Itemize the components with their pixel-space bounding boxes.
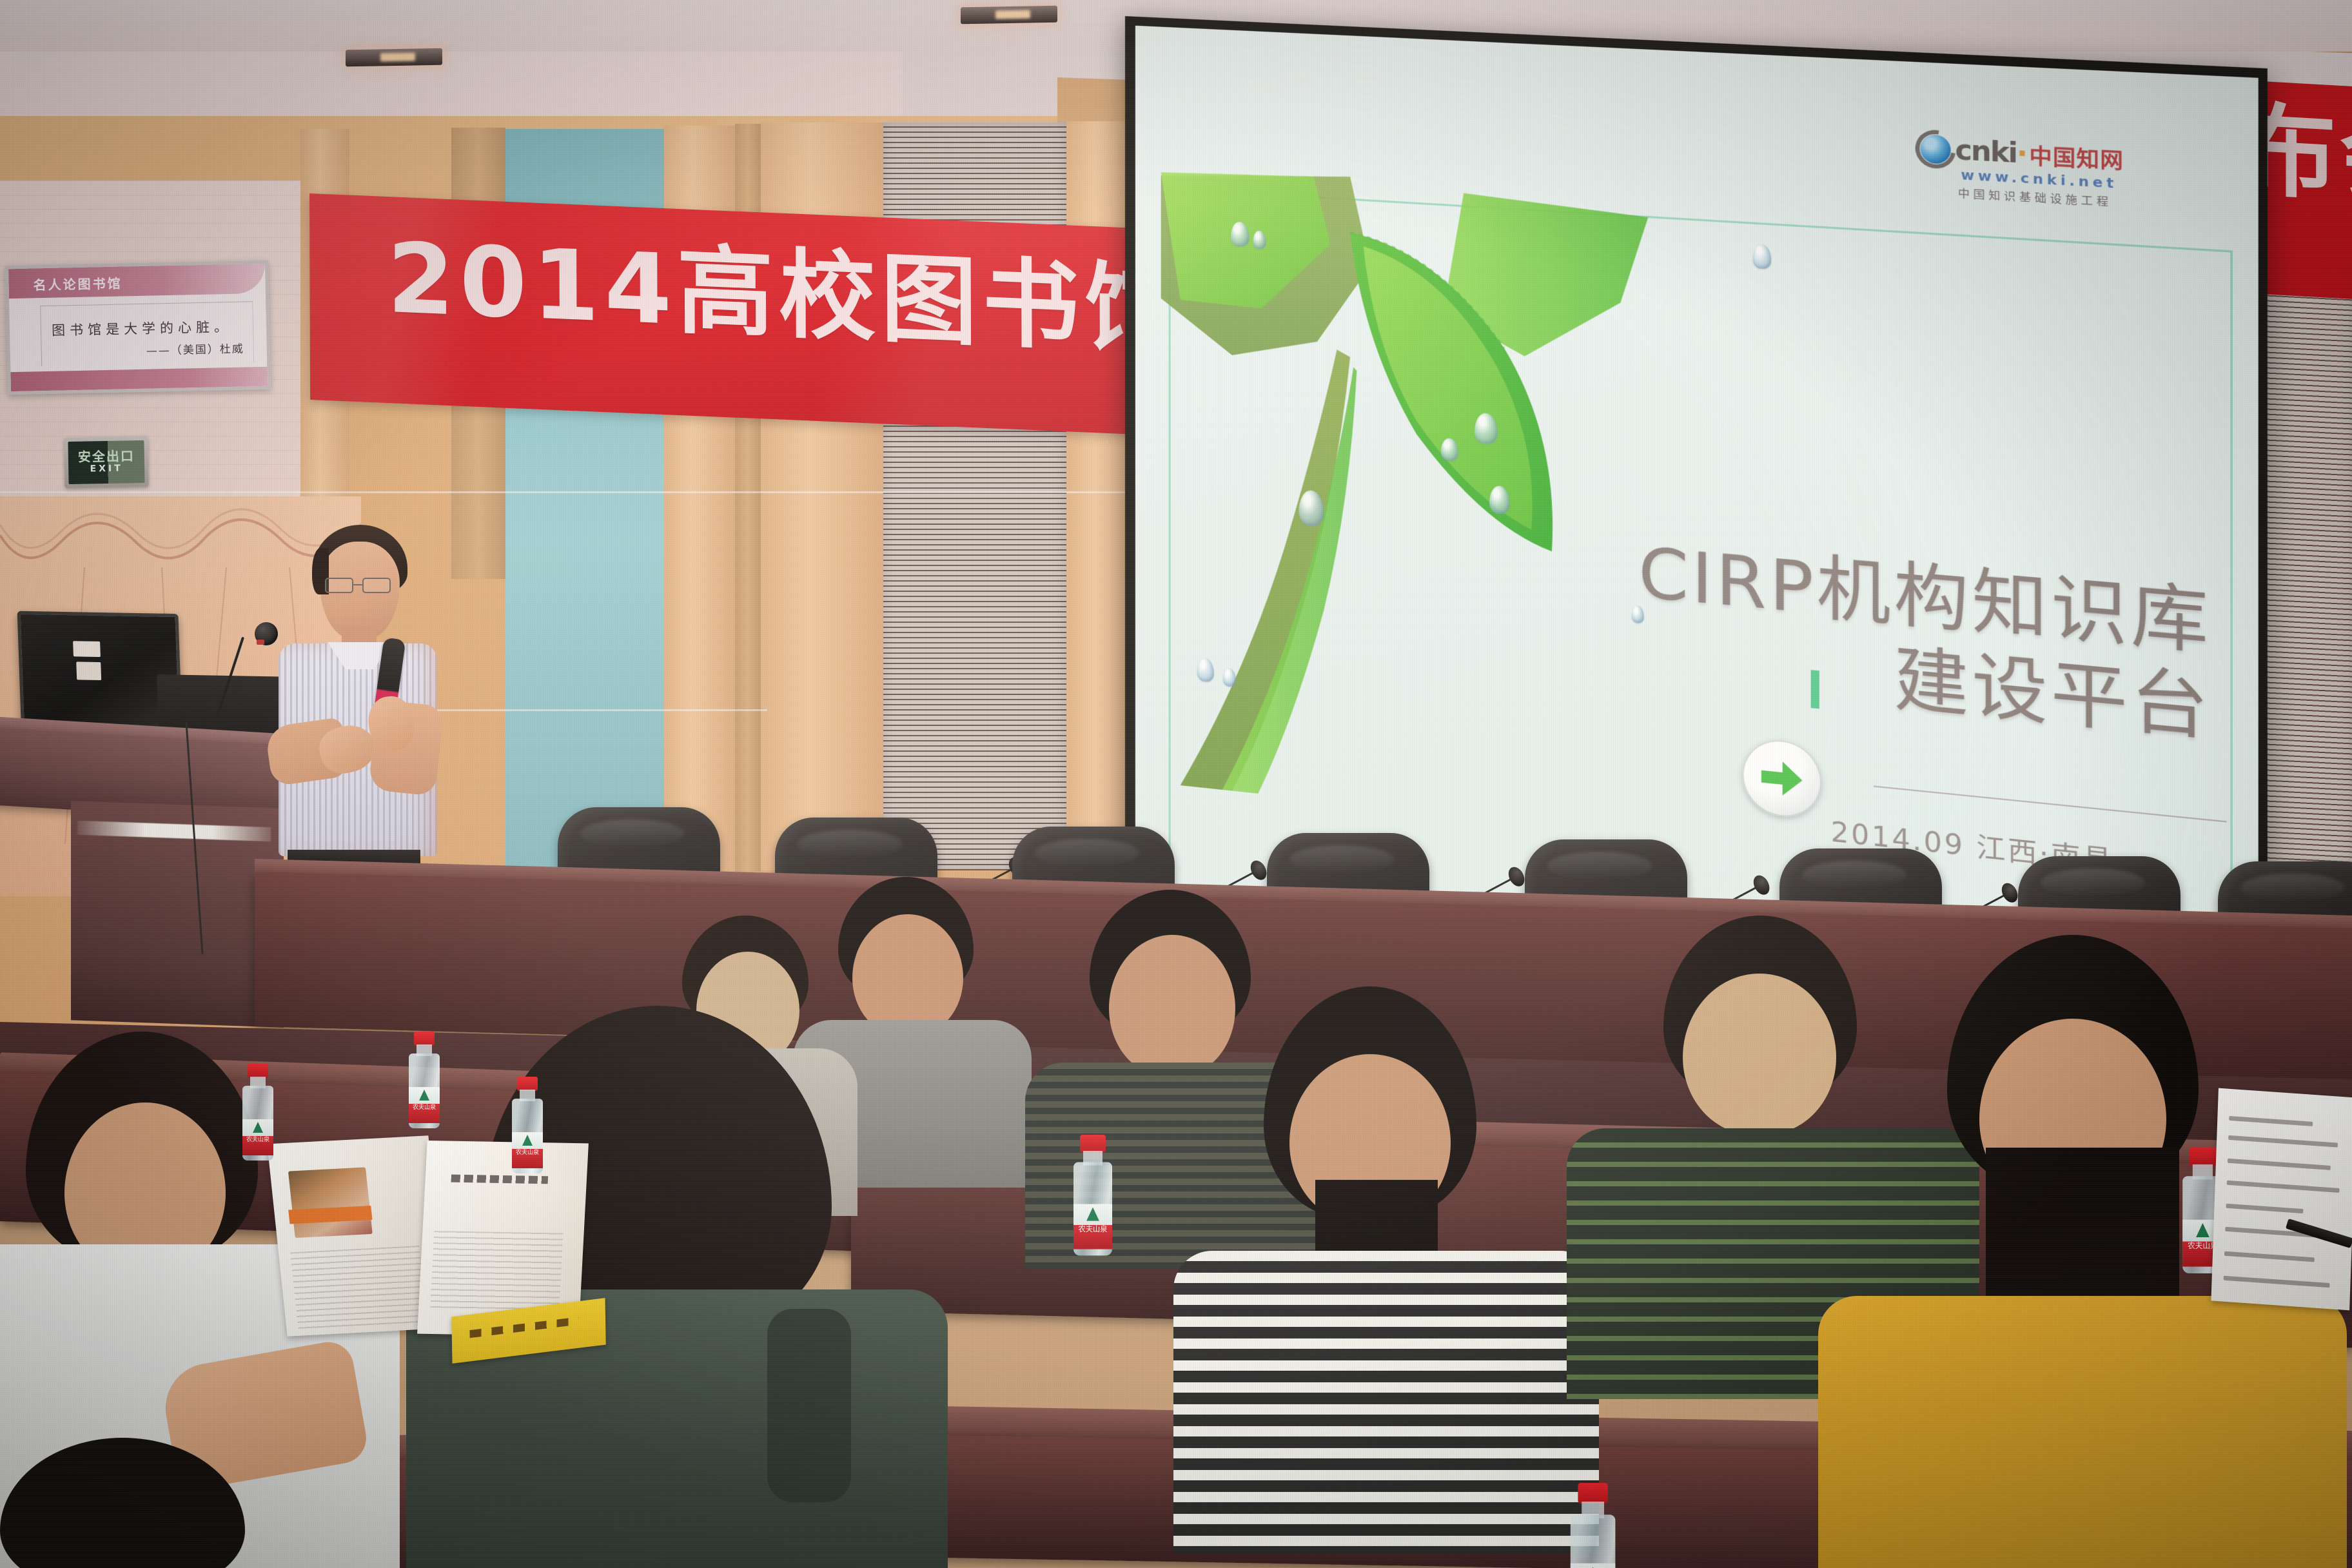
banner-sheen xyxy=(309,193,1168,436)
plaque-header-text: 名人论图书馆 xyxy=(33,273,122,294)
cnki-dot-icon: · xyxy=(2017,138,2026,170)
plaque-footer-bar xyxy=(10,367,268,391)
magazine-body-text xyxy=(290,1246,427,1329)
bottle-brand-text: 农夫山泉 xyxy=(513,1150,542,1157)
hair xyxy=(0,1438,245,1568)
conference-photo-scene: 名人论图书馆 图书馆是大学的心脏。 ——（美国）杜威 安全出口 EXIT 201… xyxy=(0,0,2352,1568)
note-line xyxy=(2229,1116,2313,1126)
bottle-body xyxy=(1571,1514,1616,1568)
glasses-bridge xyxy=(353,584,362,585)
plaque-inner-frame: 图书馆是大学的心脏。 ——（美国）杜威 xyxy=(40,301,254,366)
water-bottle: 农夫山泉 xyxy=(1070,1135,1115,1256)
water-bottle: 农夫山泉 xyxy=(509,1077,545,1173)
wall-plaque: 名人论图书馆 图书馆是大学的心脏。 ——（美国）杜威 xyxy=(5,260,271,395)
magazine-body-text xyxy=(430,1231,563,1310)
exit-sign-chinese: 安全出口 xyxy=(78,449,135,464)
arrow-right-icon xyxy=(1758,756,1805,800)
torso xyxy=(1818,1296,2347,1568)
bottle-cap xyxy=(248,1064,268,1078)
note-line xyxy=(2224,1276,2330,1288)
red-event-banner: 2014高校图书馆‘知识展 xyxy=(309,193,1168,436)
torso xyxy=(1173,1251,1599,1554)
bottle-brand-text: 农夫山泉 xyxy=(244,1137,272,1144)
water-bottle: 农夫山泉 xyxy=(240,1064,276,1161)
magazine-headline xyxy=(451,1175,548,1184)
bottle-cap xyxy=(1080,1135,1106,1153)
cnki-wordmark-text: cnki xyxy=(1955,135,2016,170)
bottle-cap xyxy=(1578,1483,1607,1504)
leaf-svg xyxy=(1155,137,1704,895)
head xyxy=(1683,974,1836,1135)
cnki-logo: cnki·中国知网 www.cnki.net 中国知识基础设施工程 xyxy=(1920,134,2162,212)
bottle-cap xyxy=(517,1077,538,1091)
exit-sign-english: EXIT xyxy=(90,462,122,475)
exit-sign-face: 安全出口 EXIT xyxy=(68,440,144,484)
audience-person xyxy=(0,1438,284,1568)
shoulder-strap xyxy=(767,1309,851,1502)
bottle-cap xyxy=(414,1032,435,1046)
plaque-attribution-text: ——（美国）杜威 xyxy=(146,340,244,358)
note-line xyxy=(2226,1204,2303,1213)
monitor-sticker xyxy=(76,661,101,680)
audience-person xyxy=(1206,986,1567,1476)
note-line xyxy=(2228,1135,2338,1148)
note-line xyxy=(2224,1251,2315,1262)
water-bottle: 农夫山泉 xyxy=(1567,1483,1619,1568)
leaf-graphic xyxy=(1155,137,1704,895)
glasses-icon xyxy=(325,578,397,594)
handwritten-notes xyxy=(2211,1088,2352,1311)
note-line xyxy=(2228,1159,2331,1170)
glasses-lens xyxy=(362,578,391,593)
monitor-sticker xyxy=(73,641,101,657)
plaque-quote-text: 图书馆是大学的心脏。 xyxy=(52,317,233,340)
plaque-header-bar: 名人论图书馆 xyxy=(8,264,266,299)
bottle-brand-text: 农夫山泉 xyxy=(410,1105,438,1112)
exit-sign: 安全出口 EXIT xyxy=(64,436,148,488)
downlight-icon xyxy=(346,48,442,67)
globe-icon xyxy=(1920,134,1950,164)
downlight-icon xyxy=(961,6,1057,24)
note-line xyxy=(2227,1181,2340,1193)
bottle-cap xyxy=(2190,1148,2217,1166)
wall-seam xyxy=(0,491,1135,493)
cnki-chinese-name: 中国知网 xyxy=(2029,144,2124,173)
magazine-photo xyxy=(288,1167,373,1238)
bottle-brand-text: 农夫山泉 xyxy=(1075,1227,1111,1235)
water-bottle: 农夫山泉 xyxy=(406,1032,442,1128)
glasses-lens xyxy=(325,578,353,593)
speaker-person xyxy=(258,509,451,909)
logo-ring-icon xyxy=(1907,122,1963,175)
